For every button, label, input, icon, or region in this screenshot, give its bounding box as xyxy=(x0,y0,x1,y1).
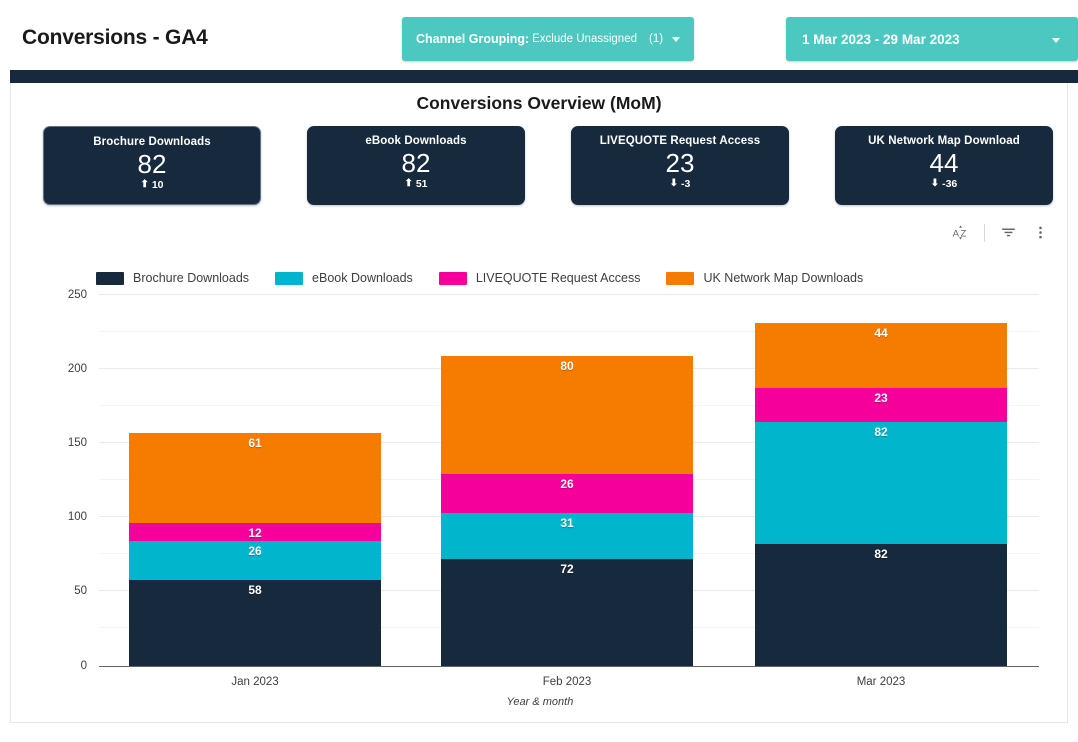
chevron-down-icon xyxy=(672,37,680,42)
chart-plot-area: 050100150200250582612617231268082822344 xyxy=(99,295,1039,667)
bar-segment[interactable]: 82 xyxy=(755,422,1007,544)
scorecard-value: 23 xyxy=(571,148,789,178)
bar-value-label: 72 xyxy=(441,562,693,576)
y-tick-label: 150 xyxy=(68,437,87,449)
x-tick-label: Feb 2023 xyxy=(441,676,693,688)
y-tick-label: 200 xyxy=(68,363,87,375)
x-tick-label: Jan 2023 xyxy=(129,676,381,688)
chart-toolbar: A Z xyxy=(951,223,1049,242)
sort-az-icon[interactable]: A Z xyxy=(951,223,970,242)
legend-label: LIVEQUOTE Request Access xyxy=(476,271,641,285)
scorecard-ebook-downloads[interactable]: eBook Downloads 82 ⬆ 51 xyxy=(307,126,525,205)
bar-value-label: 31 xyxy=(441,516,693,530)
x-axis-title: Year & month xyxy=(11,696,1069,708)
y-tick-label: 50 xyxy=(74,585,87,597)
bar-value-label: 58 xyxy=(129,583,381,597)
header-divider xyxy=(10,70,1078,83)
bar-segment[interactable]: 82 xyxy=(755,544,1007,666)
bar-value-label: 82 xyxy=(755,425,1007,439)
legend-swatch xyxy=(666,272,694,285)
bar-value-label: 82 xyxy=(755,547,1007,561)
x-axis-line xyxy=(99,666,1039,668)
overview-title: Conversions Overview (MoM) xyxy=(11,93,1067,114)
channel-grouping-filter[interactable]: Channel Grouping: Exclude Unassigned (1) xyxy=(402,17,694,61)
page-title: Conversions - GA4 xyxy=(22,26,208,50)
y-tick-label: 100 xyxy=(68,511,87,523)
channel-grouping-count: (1) xyxy=(649,33,663,45)
scorecard-delta: ⬆ 51 xyxy=(307,178,525,190)
bar-segment[interactable]: 26 xyxy=(441,474,693,513)
bar-value-label: 26 xyxy=(441,477,693,491)
bar-segment[interactable]: 44 xyxy=(755,323,1007,388)
bar-value-label: 61 xyxy=(129,436,381,450)
bar-value-label: 23 xyxy=(755,391,1007,405)
legend-label: eBook Downloads xyxy=(312,271,413,285)
scorecard-livequote-request-access[interactable]: LIVEQUOTE Request Access 23 ⬇ -3 xyxy=(571,126,789,205)
bar-segment[interactable]: 23 xyxy=(755,388,1007,422)
bar-segment[interactable]: 31 xyxy=(441,513,693,559)
channel-grouping-value: Exclude Unassigned xyxy=(532,33,637,45)
scorecard-delta: ⬆ 10 xyxy=(44,179,260,191)
chevron-down-icon xyxy=(1052,38,1060,43)
channel-grouping-label: Channel Grouping: xyxy=(416,32,529,46)
scorecard-uk-network-map-download[interactable]: UK Network Map Download 44 ⬇ -36 xyxy=(835,126,1053,205)
bar-group: 58261261 xyxy=(129,433,381,666)
legend-swatch xyxy=(96,272,124,285)
scorecard-delta: ⬇ -3 xyxy=(571,178,789,190)
y-tick-label: 250 xyxy=(68,289,87,301)
scorecard-delta: ⬇ -36 xyxy=(835,178,1053,190)
bar-segment[interactable]: 58 xyxy=(129,580,381,666)
bar-value-label: 80 xyxy=(441,359,693,373)
legend-item-uk-network-map-downloads[interactable]: UK Network Map Downloads xyxy=(666,271,863,285)
scorecard-row: Brochure Downloads 82 ⬆ 10 eBook Downloa… xyxy=(11,126,1069,208)
bar-segment[interactable]: 26 xyxy=(129,541,381,580)
date-range-selector[interactable]: 1 Mar 2023 - 29 Mar 2023 xyxy=(786,17,1078,61)
report-page: Conversions - GA4 Channel Grouping: Excl… xyxy=(0,0,1078,742)
scorecard-delta-value: -3 xyxy=(681,178,690,190)
legend-item-livequote-request-access[interactable]: LIVEQUOTE Request Access xyxy=(439,271,641,285)
legend-item-ebook-downloads[interactable]: eBook Downloads xyxy=(275,271,413,285)
scorecard-value: 44 xyxy=(835,148,1053,178)
scorecard-delta-value: 10 xyxy=(152,179,164,191)
scorecard-label: eBook Downloads xyxy=(307,135,525,147)
scorecard-label: UK Network Map Download xyxy=(835,135,1053,147)
legend-swatch xyxy=(439,272,467,285)
scorecard-value: 82 xyxy=(44,149,260,179)
legend-label: UK Network Map Downloads xyxy=(703,271,863,285)
stacked-bar-chart: 050100150200250582612617231268082822344 … xyxy=(11,288,1069,708)
bar-value-label: 26 xyxy=(129,544,381,558)
chart-legend: Brochure Downloads eBook Downloads LIVEQ… xyxy=(96,271,863,285)
y-tick-label: 0 xyxy=(81,660,87,672)
scorecard-label: LIVEQUOTE Request Access xyxy=(571,135,789,147)
arrow-down-icon: ⬇ xyxy=(931,179,939,189)
date-range-value: 1 Mar 2023 - 29 Mar 2023 xyxy=(802,32,960,47)
scorecard-delta-value: -36 xyxy=(942,178,957,190)
bar-segment[interactable]: 61 xyxy=(129,433,381,523)
report-canvas: Conversions Overview (MoM) Brochure Down… xyxy=(10,83,1068,723)
gridline xyxy=(99,294,1039,295)
bar-group: 82822344 xyxy=(755,323,1007,665)
toolbar-separator xyxy=(984,224,985,242)
legend-label: Brochure Downloads xyxy=(133,271,249,285)
bar-value-label: 44 xyxy=(755,326,1007,340)
bar-group: 72312680 xyxy=(441,356,693,666)
bar-segment[interactable]: 80 xyxy=(441,356,693,475)
bar-segment[interactable]: 12 xyxy=(129,523,381,541)
scorecard-brochure-downloads[interactable]: Brochure Downloads 82 ⬆ 10 xyxy=(43,126,261,205)
svg-text:A: A xyxy=(953,228,960,239)
arrow-up-icon: ⬆ xyxy=(140,180,148,190)
legend-swatch xyxy=(275,272,303,285)
scorecard-label: Brochure Downloads xyxy=(44,136,260,148)
arrow-down-icon: ⬇ xyxy=(670,179,678,189)
filter-icon[interactable] xyxy=(999,223,1018,242)
arrow-up-icon: ⬆ xyxy=(404,179,412,189)
x-tick-label: Mar 2023 xyxy=(755,676,1007,688)
more-options-icon[interactable] xyxy=(1032,223,1049,242)
bar-value-label: 12 xyxy=(129,526,381,540)
scorecard-value: 82 xyxy=(307,148,525,178)
bar-segment[interactable]: 72 xyxy=(441,559,693,666)
legend-item-brochure-downloads[interactable]: Brochure Downloads xyxy=(96,271,249,285)
scorecard-delta-value: 51 xyxy=(416,178,428,190)
report-header: Conversions - GA4 Channel Grouping: Excl… xyxy=(0,4,1078,68)
